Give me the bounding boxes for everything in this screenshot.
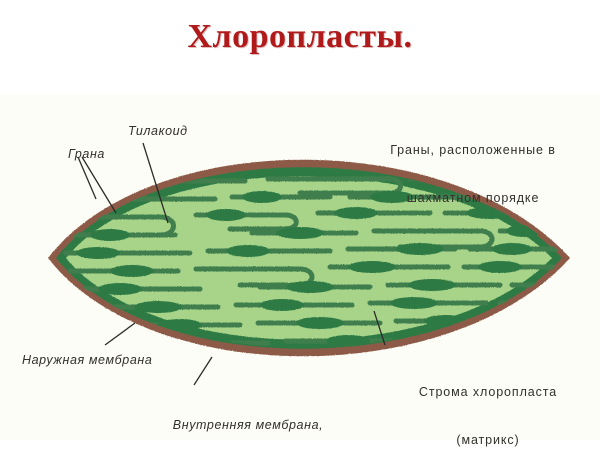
label-stroma: Строма хлоропласта (матрикс) bbox=[398, 352, 578, 450]
label-grana-staggered: Граны, расположенные в шахматном порядке bbox=[358, 110, 588, 238]
label-outer-membrane: Наружная мембрана bbox=[22, 352, 152, 368]
label-thylakoid: Тилакоид bbox=[128, 123, 188, 139]
label-grana-staggered-line1: Граны, расположенные в bbox=[358, 142, 588, 158]
label-inner-membrane-line1: Внутренняя мембрана, bbox=[88, 417, 408, 433]
chloroplast-diagram-page: Хлоропласты. bbox=[0, 0, 600, 450]
leader-inner-membrane bbox=[194, 357, 212, 385]
leader-outer-membrane bbox=[105, 323, 135, 345]
label-grana-staggered-line2: шахматном порядке bbox=[358, 190, 588, 206]
label-grana: Грана bbox=[68, 146, 105, 162]
leader-grana-2 bbox=[82, 157, 116, 213]
page-title: Хлоропласты. bbox=[0, 18, 600, 56]
label-inner-membrane: Внутренняя мембрана, создающая всю сложн… bbox=[88, 385, 408, 450]
label-stroma-line1: Строма хлоропласта bbox=[398, 384, 578, 400]
label-stroma-line2: (матрикс) bbox=[398, 432, 578, 448]
leader-grana-1 bbox=[78, 157, 96, 199]
